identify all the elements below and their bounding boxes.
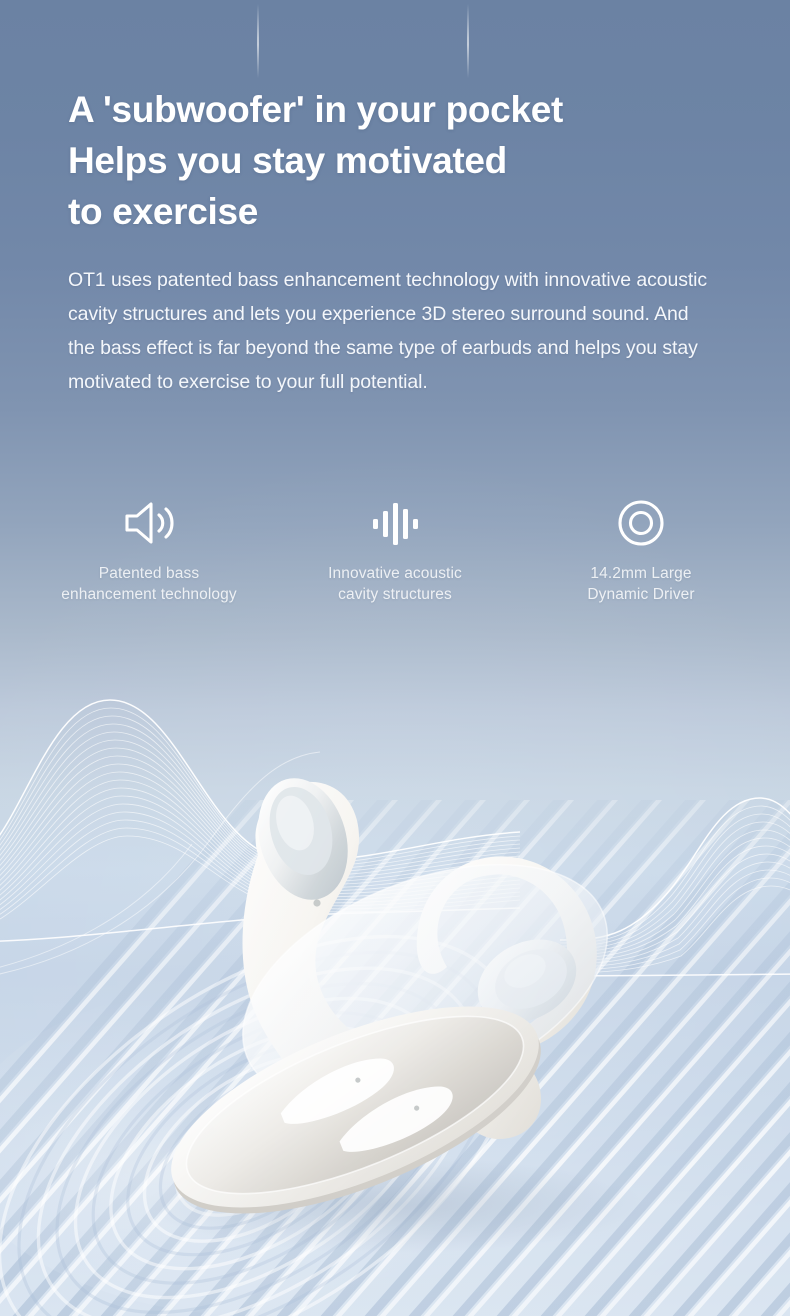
- audio-waveform-icon: [369, 497, 421, 549]
- product-image-earbuds-and-case: [95, 735, 695, 1275]
- product-feature-page: A 'subwoofer' in your pocket Helps you s…: [0, 0, 790, 1316]
- page-title: A 'subwoofer' in your pocket Helps you s…: [68, 84, 728, 237]
- speaker-volume-icon: [121, 497, 177, 549]
- feature-item-dynamic-driver: 14.2mm Large Dynamic Driver: [518, 497, 764, 605]
- dynamic-driver-icon: [616, 497, 666, 549]
- text-content-block: A 'subwoofer' in your pocket Helps you s…: [68, 84, 728, 399]
- feature-item-patented-bass: Patented bass enhancement technology: [26, 497, 272, 605]
- feature-divider-1: [257, 4, 259, 78]
- feature-label-patented-bass: Patented bass enhancement technology: [61, 563, 236, 605]
- feature-label-dynamic-driver: 14.2mm Large Dynamic Driver: [587, 563, 694, 605]
- feature-divider-2: [467, 4, 469, 78]
- feature-item-acoustic-cavity: Innovative acoustic cavity structures: [272, 497, 518, 605]
- body-description: OT1 uses patented bass enhancement techn…: [68, 263, 720, 399]
- feature-highlights-row: Patented bass enhancement technology Inn…: [26, 497, 764, 605]
- feature-label-acoustic-cavity: Innovative acoustic cavity structures: [328, 563, 462, 605]
